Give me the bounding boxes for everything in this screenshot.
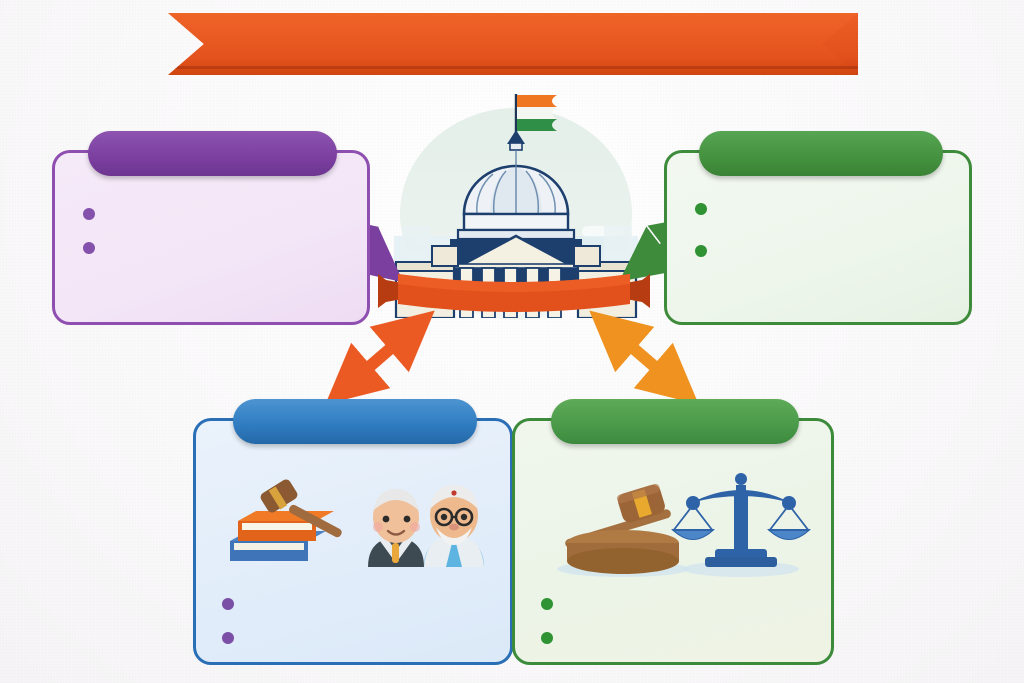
bullet-dot-icon — [695, 245, 707, 257]
judiciary-header — [699, 131, 943, 176]
list-item — [695, 195, 955, 215]
gavel-icon — [557, 483, 689, 577]
title-ribbon — [168, 13, 858, 75]
india-tricolor-flag-icon — [517, 95, 557, 131]
panel-executive-left[interactable] — [193, 418, 513, 665]
executive-right-bullet-list — [541, 590, 564, 644]
executive-left-header — [233, 399, 477, 444]
bullet-dot-icon — [222, 598, 234, 610]
arrow-to-executive-left — [348, 330, 412, 385]
judiciary-bullet-list — [695, 195, 955, 271]
bullet-dot-icon — [541, 598, 553, 610]
title-ribbon-shadow-line — [168, 66, 858, 69]
bullet-dot-icon — [695, 203, 707, 215]
panel-executive-right[interactable] — [512, 418, 834, 665]
list-item — [222, 590, 245, 610]
bullet-dot-icon — [83, 208, 95, 220]
bullet-dot-icon — [83, 242, 95, 254]
executive-left-illustration — [218, 463, 498, 583]
list-item — [695, 237, 955, 257]
diagram-canvas — [0, 0, 1024, 683]
bullet-dot-icon — [541, 632, 553, 644]
executive-right-header — [551, 399, 799, 444]
arrow-to-executive-right — [612, 330, 676, 385]
list-item — [222, 624, 245, 644]
list-item — [541, 624, 564, 644]
president-avatar-icon — [368, 489, 424, 567]
list-item — [83, 234, 351, 254]
scales-of-justice-icon — [671, 473, 811, 577]
bullet-dot-icon — [222, 632, 234, 644]
executive-right-illustration — [545, 465, 815, 585]
list-item — [83, 200, 351, 220]
list-item — [541, 590, 564, 610]
legislature-bullet-list — [83, 200, 351, 268]
panel-legislature[interactable] — [52, 150, 370, 325]
executive-left-bullet-list — [222, 590, 245, 644]
prime-minister-avatar-icon — [424, 485, 484, 567]
legislature-header — [88, 131, 337, 176]
panel-judiciary[interactable] — [664, 150, 972, 325]
government-ribbon — [378, 268, 650, 316]
government-ribbon-shape — [378, 268, 650, 316]
